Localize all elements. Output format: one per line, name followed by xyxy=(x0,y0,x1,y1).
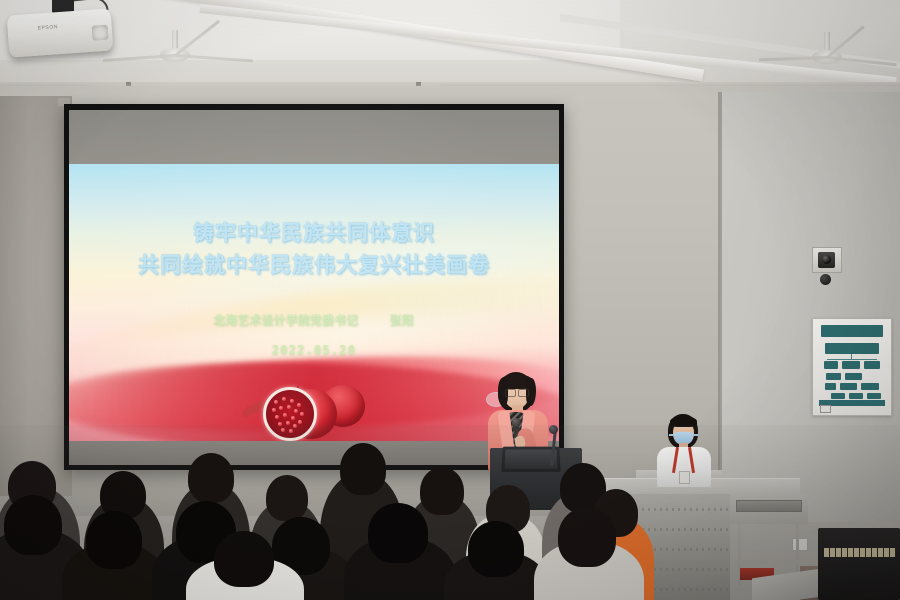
cctv-lens-icon xyxy=(822,255,831,264)
speaker-glasses-icon xyxy=(505,389,516,397)
slide-presenter-name: 张阳 xyxy=(390,313,414,327)
slide-presenter-title: 北海艺术设计学院党委书记 xyxy=(214,313,359,327)
poster-node xyxy=(864,361,880,369)
audience-member xyxy=(86,511,142,569)
audience-member xyxy=(266,475,308,521)
slide-title-line-2: 共同绘就中华民族伟大复兴壮美画卷 xyxy=(69,249,559,282)
poster-node xyxy=(861,383,879,390)
ceiling xyxy=(0,0,900,96)
poster-node xyxy=(840,383,857,390)
audience-member xyxy=(558,507,616,567)
poster-node xyxy=(826,373,841,380)
audience-member xyxy=(468,521,524,577)
poster-connector xyxy=(827,359,877,360)
screen-unlit-top xyxy=(69,110,559,164)
ceiling-projector: EPSON xyxy=(7,8,114,57)
fan-rod xyxy=(824,32,830,50)
poster-stamp xyxy=(820,405,831,413)
poster-node xyxy=(867,393,881,399)
projector-brand-label: EPSON xyxy=(37,24,58,31)
projector-lens xyxy=(92,25,109,41)
slide-presenter-line: 北海艺术设计学院党委书记 张阳 xyxy=(69,312,559,328)
audience-member xyxy=(214,531,274,587)
audience-member xyxy=(368,503,428,563)
slide-date: 2022.05.20 xyxy=(69,343,559,357)
fan-rod xyxy=(172,30,178,48)
audience-member xyxy=(4,495,62,555)
slide-title-line-1: 铸牢中华民族共同体意识 xyxy=(69,217,559,250)
poster-node xyxy=(825,343,879,354)
poster-node xyxy=(824,361,838,369)
audience-member xyxy=(340,443,386,495)
poster-title-bar xyxy=(821,325,883,337)
speaker-glasses-icon xyxy=(518,389,529,397)
slide-title: 铸牢中华民族共同体意识 共同绘就中华民族伟大复兴壮美画卷 xyxy=(69,217,559,282)
audience-member xyxy=(420,467,464,515)
poster-node xyxy=(849,393,863,399)
lecture-hall-photo: EPSON xyxy=(0,0,900,600)
poster-node xyxy=(831,393,845,399)
org-chart-poster xyxy=(812,318,892,416)
poster-node xyxy=(825,383,836,390)
poster-node xyxy=(842,361,860,369)
audience-seating-area xyxy=(0,425,900,600)
poster-node xyxy=(845,373,862,380)
cctv-dome-sensor xyxy=(820,274,831,285)
audience-member xyxy=(188,453,234,503)
